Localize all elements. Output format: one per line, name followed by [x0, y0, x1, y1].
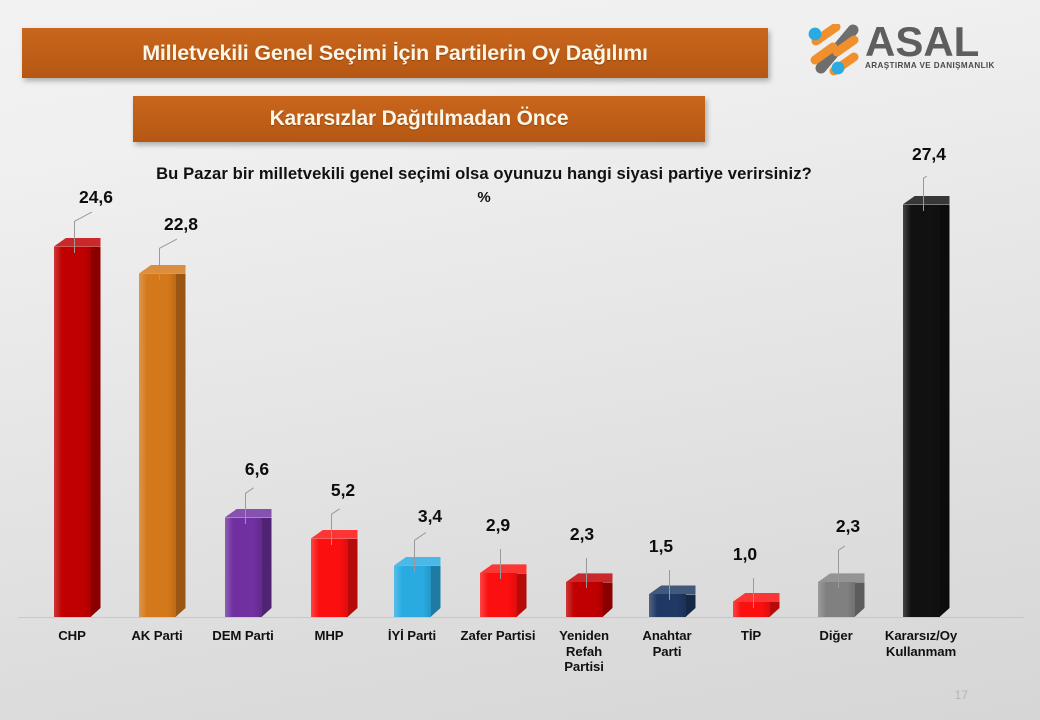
bar-top-face	[54, 238, 101, 247]
bar-karars-z-oy-kullanmam	[903, 205, 940, 617]
chart-baseline	[18, 617, 1024, 618]
value-leader-line	[74, 221, 75, 253]
bar-zafer-partisi	[480, 573, 517, 617]
bar-top-face	[649, 585, 696, 594]
value-leader-line	[159, 248, 160, 280]
slide-canvas: Milletvekili Genel Seçimi İçin Partileri…	[0, 0, 1040, 720]
bar-front-face	[480, 573, 517, 617]
bar-side-face	[431, 566, 441, 617]
bar-value-label: 1,0	[733, 544, 757, 565]
bar-top-face	[818, 573, 865, 582]
value-leader-line	[245, 493, 246, 524]
bar-side-face	[770, 602, 780, 617]
category-label-line: Kullanmam	[861, 644, 981, 660]
category-label-line: Partisi	[524, 659, 644, 675]
value-leader-line	[414, 540, 415, 572]
bar-side-face	[603, 582, 613, 617]
value-leader-kink	[159, 238, 177, 248]
value-leader-kink	[331, 508, 340, 514]
bar-ti-p	[733, 602, 770, 617]
bar-front-face	[394, 566, 431, 617]
category-label-line: Kararsız/Oy	[861, 628, 981, 644]
value-leader-kink	[74, 211, 92, 221]
value-leader-line	[500, 549, 501, 579]
value-leader-line	[586, 558, 587, 588]
bar-mhp	[311, 539, 348, 617]
bar-dem-parti	[225, 518, 262, 617]
bar-di-er	[818, 582, 855, 617]
bar-value-label: 1,5	[649, 536, 673, 557]
bar-front-face	[733, 602, 770, 617]
bar-front-face	[818, 582, 855, 617]
bar-chp	[54, 247, 91, 617]
bar-top-face	[566, 573, 613, 582]
bar-side-face	[940, 205, 950, 617]
bar-top-face	[225, 509, 272, 518]
bar-anahtar-parti	[649, 594, 686, 617]
bar-value-label: 27,4	[912, 144, 946, 165]
bar-value-label: 2,3	[836, 516, 860, 537]
value-leader-line	[753, 578, 754, 608]
value-leader-kink	[923, 175, 927, 178]
bar-chart: 24,6CHP22,8AK Parti6,6DEM Parti5,2MHP3,4…	[0, 0, 1040, 720]
bar-value-label: 6,6	[245, 459, 269, 480]
value-leader-line	[838, 550, 839, 588]
bar-side-face	[686, 594, 696, 617]
bar-front-face	[54, 247, 91, 617]
bar-value-label: 22,8	[164, 214, 198, 235]
category-label-karars-z-oy-kullanmam: Kararsız/OyKullanmam	[861, 628, 981, 659]
bar-front-face	[649, 594, 686, 617]
bar-front-face	[566, 582, 603, 617]
bar-front-face	[311, 539, 348, 617]
category-label-line: Parti	[607, 644, 727, 660]
bar-front-face	[139, 274, 176, 617]
page-number: 17	[955, 688, 968, 702]
bar-value-label: 2,9	[486, 515, 510, 536]
bar-side-face	[176, 274, 186, 617]
bar-ak-parti	[139, 274, 176, 617]
bar-side-face	[91, 247, 101, 617]
bar-top-face	[733, 593, 780, 602]
bar-top-face	[480, 564, 527, 573]
bar-top-face	[311, 530, 358, 539]
bar-value-label: 2,3	[570, 524, 594, 545]
bar-value-label: 24,6	[79, 187, 113, 208]
bar-value-label: 5,2	[331, 480, 355, 501]
bar-yeniden-refah-partisi	[566, 582, 603, 617]
bar-side-face	[262, 518, 272, 617]
value-leader-line	[923, 178, 924, 211]
bar-top-face	[139, 265, 186, 274]
value-leader-kink	[414, 532, 426, 541]
bar-top-face	[903, 196, 950, 205]
bar-front-face	[225, 518, 262, 617]
bar-side-face	[517, 573, 527, 617]
value-leader-kink	[838, 546, 845, 551]
bar-front-face	[903, 205, 940, 617]
bar-side-face	[348, 539, 358, 617]
value-leader-line	[669, 570, 670, 600]
value-leader-kink	[245, 487, 254, 493]
bar-i-yi-parti	[394, 566, 431, 617]
bar-value-label: 3,4	[418, 506, 442, 527]
value-leader-line	[331, 514, 332, 545]
bar-top-face	[394, 557, 441, 566]
bar-side-face	[855, 582, 865, 617]
